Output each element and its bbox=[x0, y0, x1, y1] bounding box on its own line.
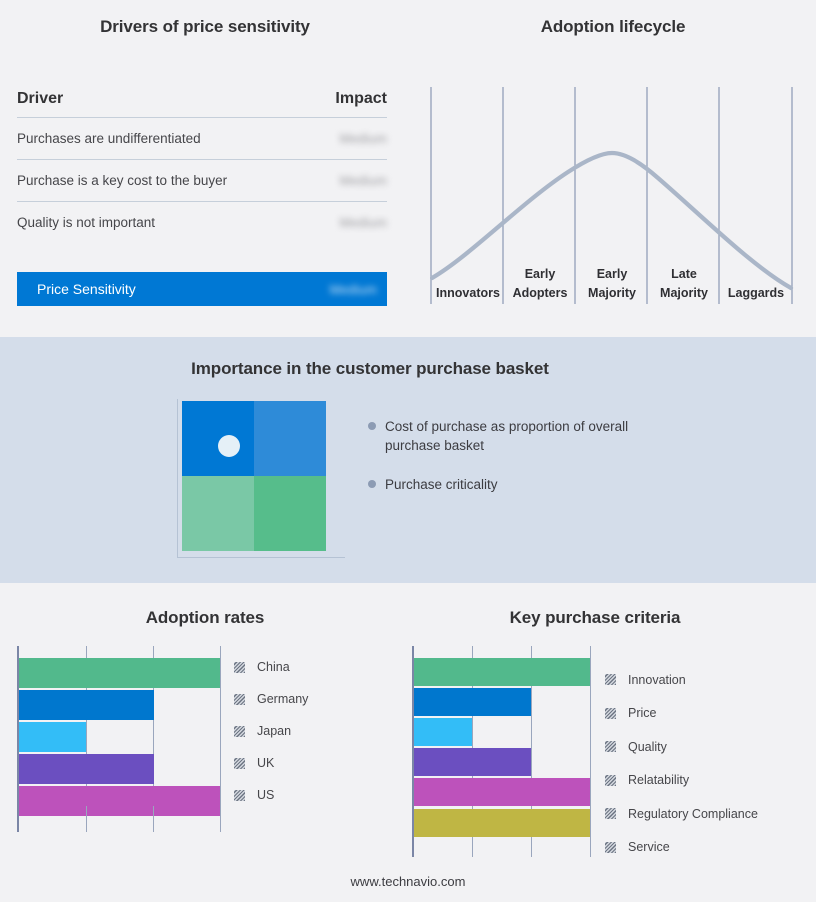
key-purchase-criteria-title: Key purchase criteria bbox=[400, 608, 790, 628]
quadrant-cell-bottom-right bbox=[254, 476, 326, 551]
drivers-table-header: Driver Impact bbox=[17, 90, 387, 118]
quadrant-x-axis bbox=[177, 557, 345, 558]
adoption-plot-bottom-padding bbox=[17, 806, 222, 832]
quadrant-cell-top-left bbox=[182, 401, 254, 476]
criteria-plot-area bbox=[412, 646, 593, 841]
drivers-panel-title: Drivers of price sensitivity bbox=[0, 17, 410, 37]
legend-item-germany: Germany bbox=[234, 683, 394, 715]
quadrant-cells bbox=[182, 401, 326, 551]
legend-label: Quality bbox=[628, 740, 667, 754]
adoption-gridline-2-ext bbox=[153, 806, 154, 832]
key-purchase-criteria-panel: Key purchase criteria Innovation Price bbox=[400, 583, 816, 902]
criteria-gridline-3-ext bbox=[590, 841, 591, 857]
driver-label: Purchases are undifferentiated bbox=[17, 131, 201, 146]
hatch-swatch-icon bbox=[234, 758, 245, 769]
impact-value-redacted: Medium bbox=[340, 215, 387, 230]
adoption-value-axis-ext bbox=[17, 806, 19, 832]
drivers-table: Driver Impact Purchases are undifferenti… bbox=[17, 90, 387, 243]
footer-url[interactable]: www.technavio.com bbox=[0, 874, 816, 889]
adoption-gridline-1-ext bbox=[86, 806, 87, 832]
criteria-gridline-1-ext bbox=[472, 841, 473, 857]
table-row: Purchase is a key cost to the buyer Medi… bbox=[17, 160, 387, 202]
legend-label: Japan bbox=[257, 724, 291, 738]
bar-germany bbox=[19, 690, 154, 720]
segment-label-late-majority-line2: Majority bbox=[648, 286, 720, 300]
segment-label-innovators: Innovators bbox=[432, 286, 504, 300]
column-header-impact: Impact bbox=[335, 90, 387, 108]
segment-label-laggards: Laggards bbox=[720, 286, 792, 300]
segment-label-early-adopters-line1: Early bbox=[504, 267, 576, 281]
criteria-gridline-3 bbox=[590, 646, 591, 841]
adoption-rates-chart bbox=[17, 646, 222, 806]
criteria-legend: Innovation Price Quality Relatability Re… bbox=[605, 663, 805, 864]
purchase-basket-legend: Cost of purchase as proportion of overal… bbox=[368, 417, 708, 514]
criteria-value-axis-ext bbox=[412, 841, 414, 857]
legend-item: Cost of purchase as proportion of overal… bbox=[368, 417, 708, 455]
purchase-basket-panel: Importance in the customer purchase bask… bbox=[0, 337, 816, 583]
bar-uk bbox=[19, 754, 154, 784]
price-sensitivity-impact-redacted: Medium bbox=[330, 282, 377, 297]
legend-label: Cost of purchase as proportion of overal… bbox=[385, 417, 640, 455]
legend-label: US bbox=[257, 788, 274, 802]
adoption-rates-panel: Adoption rates China Germany bbox=[0, 583, 410, 902]
hatch-swatch-icon bbox=[234, 790, 245, 801]
adoption-rates-title: Adoption rates bbox=[0, 608, 410, 628]
adoption-rates-legend: China Germany Japan UK US bbox=[234, 651, 394, 811]
quadrant-cell-top-right bbox=[254, 401, 326, 476]
adoption-lifecycle-title: Adoption lifecycle bbox=[410, 17, 816, 37]
impact-value-redacted: Medium bbox=[340, 173, 387, 188]
bar-regulatory-compliance bbox=[414, 778, 590, 806]
segment-label-early-majority-line1: Early bbox=[576, 267, 648, 281]
legend-item-price: Price bbox=[605, 697, 805, 731]
hatch-swatch-icon bbox=[234, 694, 245, 705]
driver-label: Purchase is a key cost to the buyer bbox=[17, 173, 227, 188]
legend-item-relatability: Relatability bbox=[605, 764, 805, 798]
bar-japan bbox=[19, 722, 86, 752]
bar-relatability bbox=[414, 748, 531, 776]
hatch-swatch-icon bbox=[605, 741, 616, 752]
legend-label: Purchase criticality bbox=[385, 475, 498, 494]
legend-item-china: China bbox=[234, 651, 394, 683]
impact-value-redacted: Medium bbox=[340, 131, 387, 146]
legend-label: Regulatory Compliance bbox=[628, 807, 758, 821]
hatch-swatch-icon bbox=[605, 775, 616, 786]
legend-label: Service bbox=[628, 840, 670, 854]
driver-label: Quality is not important bbox=[17, 215, 155, 230]
segment-label-early-majority-line2: Majority bbox=[576, 286, 648, 300]
drivers-panel: Drivers of price sensitivity Driver Impa… bbox=[0, 0, 410, 337]
adoption-gridline-3-ext bbox=[220, 806, 221, 832]
legend-label: Price bbox=[628, 706, 656, 720]
legend-item-quality: Quality bbox=[605, 730, 805, 764]
legend-label: UK bbox=[257, 756, 274, 770]
bullet-dot-icon bbox=[368, 422, 376, 430]
bullet-dot-icon bbox=[368, 480, 376, 488]
bar-china bbox=[19, 658, 220, 688]
criteria-plot-bottom-padding bbox=[412, 841, 593, 857]
hatch-swatch-icon bbox=[605, 808, 616, 819]
adoption-lifecycle-chart: Innovators Early Adopters Early Majority… bbox=[430, 80, 796, 310]
purchase-basket-title: Importance in the customer purchase bask… bbox=[0, 359, 740, 379]
legend-item-us: US bbox=[234, 779, 394, 811]
hatch-swatch-icon bbox=[605, 842, 616, 853]
legend-label: China bbox=[257, 660, 290, 674]
adoption-lifecycle-panel: Adoption lifecycle Innovators Early Adop… bbox=[410, 0, 816, 337]
quadrant-cell-bottom-left bbox=[182, 476, 254, 551]
bar-quality bbox=[414, 718, 472, 746]
legend-label: Relatability bbox=[628, 773, 689, 787]
hatch-swatch-icon bbox=[605, 708, 616, 719]
bar-service bbox=[414, 809, 590, 837]
bar-price bbox=[414, 688, 531, 716]
adoption-plot-area bbox=[17, 646, 222, 806]
quadrant-y-axis bbox=[177, 399, 178, 557]
price-sensitivity-label: Price Sensitivity bbox=[37, 281, 136, 297]
segment-label-early-adopters-line2: Adopters bbox=[504, 286, 576, 300]
legend-item-service: Service bbox=[605, 831, 805, 865]
legend-item: Purchase criticality bbox=[368, 475, 708, 494]
segment-label-late-majority-line1: Late bbox=[648, 267, 720, 281]
legend-item-uk: UK bbox=[234, 747, 394, 779]
legend-item-regulatory-compliance: Regulatory Compliance bbox=[605, 797, 805, 831]
criteria-chart bbox=[412, 646, 593, 841]
legend-item-japan: Japan bbox=[234, 715, 394, 747]
quadrant-marker-dot bbox=[218, 435, 240, 457]
legend-label: Innovation bbox=[628, 673, 686, 687]
hatch-swatch-icon bbox=[234, 726, 245, 737]
bar-innovation bbox=[414, 658, 590, 686]
table-row: Quality is not important Medium bbox=[17, 202, 387, 243]
adoption-gridline-3 bbox=[220, 646, 221, 806]
criteria-gridline-2-ext bbox=[531, 841, 532, 857]
hatch-swatch-icon bbox=[605, 674, 616, 685]
legend-label: Germany bbox=[257, 692, 308, 706]
column-header-driver: Driver bbox=[17, 90, 63, 108]
price-sensitivity-highlight-row: Price Sensitivity Medium bbox=[17, 272, 387, 306]
hatch-swatch-icon bbox=[234, 662, 245, 673]
table-row: Purchases are undifferentiated Medium bbox=[17, 118, 387, 160]
lifecycle-labels: Innovators Early Adopters Early Majority… bbox=[430, 262, 796, 307]
legend-item-innovation: Innovation bbox=[605, 663, 805, 697]
